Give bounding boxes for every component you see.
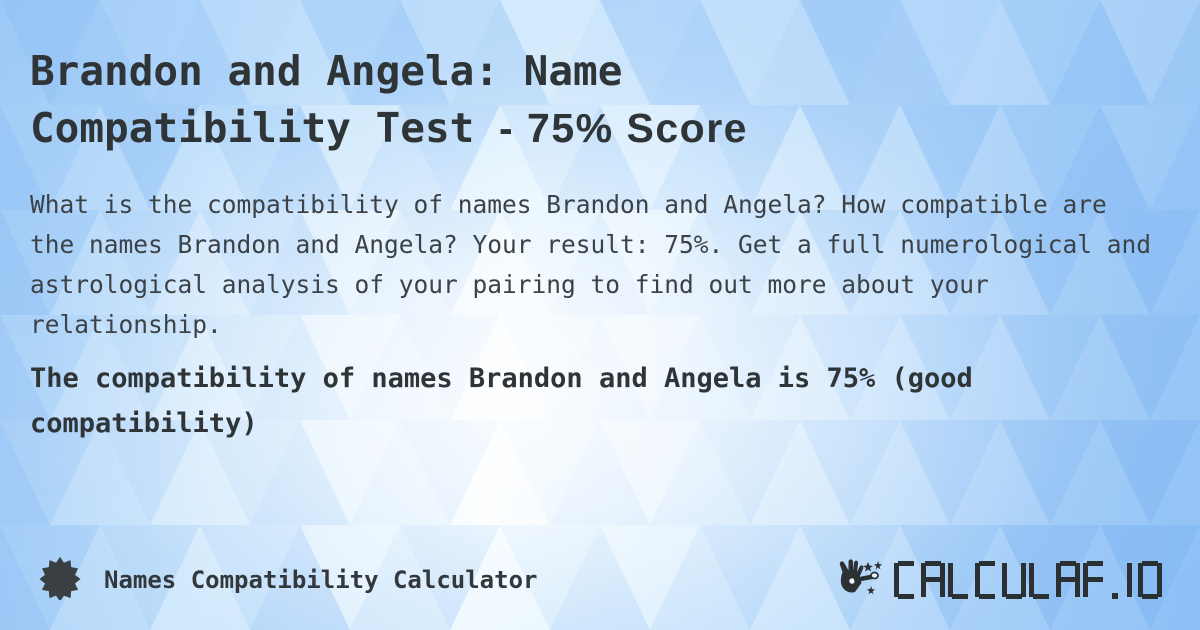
logo-char-c-1: [894, 561, 918, 599]
logo-char-i: [1123, 561, 1135, 599]
site-brand[interactable]: Names Compatibility Calculator: [38, 556, 537, 604]
star-burst-icon: [38, 556, 82, 604]
logo-char-t: [1083, 561, 1107, 599]
page-title-line-2-prefix: Compatibility Test: [30, 104, 499, 152]
calculatio-logo[interactable]: [835, 557, 1162, 603]
site-brand-label: Names Compatibility Calculator: [104, 566, 537, 594]
footer: Names Compatibility Calculator: [0, 545, 1200, 615]
hand-magic-wand-icon: [835, 557, 887, 603]
page-title-line-1: Brandon and Angela: Name: [30, 47, 622, 95]
logo-char-dot: [1112, 593, 1118, 599]
lead-paragraph: What is the compatibility of names Brand…: [30, 185, 1160, 345]
result-statement: The compatibility of names Brandon and A…: [30, 356, 1170, 446]
logo-char-a-2: [1056, 561, 1080, 599]
logo-char-a-1: [921, 561, 945, 599]
calculatio-wordmark: [894, 561, 1162, 599]
logo-char-o: [1138, 561, 1162, 599]
logo-char-c-2: [975, 561, 999, 599]
page-title: Brandon and Angela: Name Compatibility T…: [30, 43, 1170, 157]
logo-char-u: [1002, 561, 1026, 599]
card-content: Brandon and Angela: Name Compatibility T…: [0, 0, 1200, 630]
share-card: Brandon and Angela: Name Compatibility T…: [0, 0, 1200, 630]
page-title-score: - 75% Score: [499, 105, 748, 151]
logo-char-l-2: [1029, 561, 1053, 599]
logo-char-l-1: [948, 561, 972, 599]
